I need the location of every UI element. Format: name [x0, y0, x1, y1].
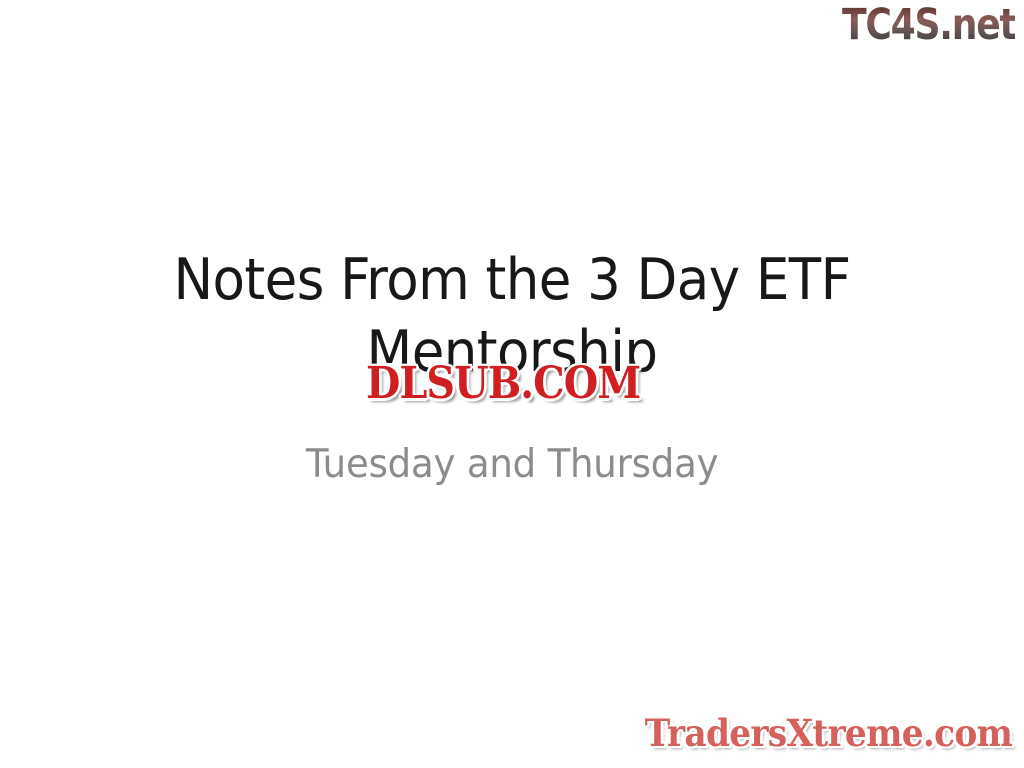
tc4s-net-logo: TC4S.net: [842, 2, 1015, 48]
slide-subtitle: Tuesday and Thursday: [0, 440, 1024, 490]
slide-title-line-1: Notes From the 3 Day ETF: [36, 244, 988, 316]
presentation-slide: TC4S.net Notes From the 3 Day ETF Mentor…: [0, 0, 1024, 768]
slide-subtitle-text: Tuesday and Thursday: [306, 440, 718, 490]
tradersxtreme-com-watermark: TradersXtreme.com: [644, 712, 1012, 754]
dlsub-com-watermark: DLSUB.COM: [366, 360, 640, 408]
